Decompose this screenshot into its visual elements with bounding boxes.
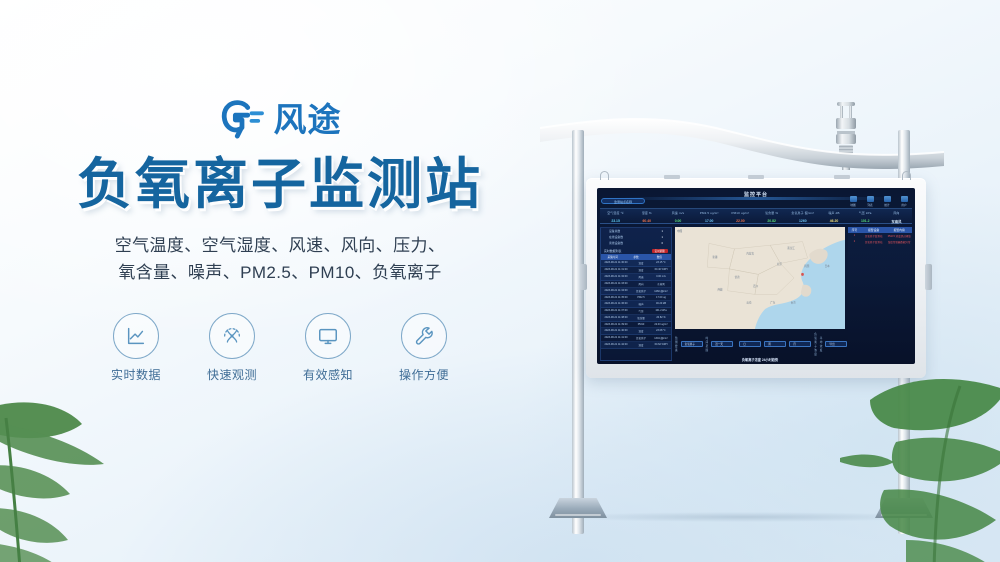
stat-label: 气压 kPa [850,211,881,215]
stat-item: 气压 kPa101.2 [850,209,881,223]
alarm-cell: 2 [848,240,861,244]
svg-text:云南: 云南 [746,300,751,304]
table-cell: 负氧离子 [631,336,651,340]
feature-label: 操作方便 [393,366,455,383]
user-tool-icon[interactable]: 用户 [898,196,910,207]
cabinet-side-tab-right [925,264,932,290]
support-post-left [572,130,584,534]
svg-text:西藏: 西藏 [718,288,723,292]
summary-row: 离线设备数0 [601,240,671,246]
table-cell: 2023-08-21 11:39:00 [601,323,631,326]
table-row[interactable]: 2023-08-21 11:41:00负氧离子1304 個/cm³ [601,335,671,342]
mount-clip-icon [748,175,764,179]
param-label: 监测要素 [675,336,678,352]
subtitle-line-1: 空气温度、空气湿度、风速、风向、压力、 [0,232,560,260]
stat-item: 风向东南风 [881,209,912,223]
summary-value: 0 [661,241,663,245]
chart-plot: 0123456700:0001:0002:0003:0004:0005:0006… [675,362,845,364]
data-table-body[interactable]: 2023-08-21 11:30:00温度23.15 ℃2023-08-21 1… [601,260,671,349]
legend-average: 平均浓度 [820,336,823,352]
table-cell: 60.40 %RH [651,268,671,272]
chart-controls[interactable]: 监测要素 负氧离子 时间范围 近一天 日 周 月 负氧离子浓度 平均浓度 导出 [675,332,845,356]
stat-item: PM10 ug/m³22.00 [725,209,756,223]
table-cell: 20.82 % [651,316,671,320]
table-cell: 23.08 ℃ [651,329,671,333]
table-cell: 1304 個/cm³ [651,336,671,340]
svg-text:台湾: 台湾 [791,300,796,304]
alarm-cell: PM2.5 浓度超过阈值 [886,234,912,238]
stat-item: 风速 m/s0.00 [662,209,693,223]
table-row[interactable]: 2023-08-21 11:31:00湿度60.40 %RH [601,267,671,274]
table-cell: 2023-08-21 11:33:00 [601,282,631,286]
legend-primary: 负氧离子浓度 [814,332,817,356]
table-cell: 2023-08-21 11:30:00 [601,261,631,265]
feature-item-easy-operation[interactable]: 操作方便 [393,313,455,383]
summary-value: 1 [661,235,663,239]
table-row[interactable]: 2023-08-21 11:34:00负氧离子1260 個/cm³ [601,288,671,295]
table-cell: 2023-08-21 11:38:00 [601,316,631,320]
table-column-header: 数值 [648,255,671,259]
table-cell: 101.2 kPa [651,309,671,313]
svg-text:北京: 北京 [777,262,782,266]
range-button-week[interactable]: 周 [764,341,786,347]
alarm-panel[interactable]: 序号报警设备报警内容 1负氧离子监测站PM2.5 浓度超过阈值2负氧离子监测站湿… [848,227,912,361]
summary-label: 设备总数 [609,229,620,233]
canopy-roof [536,112,948,174]
stat-label: PM2.5 ug/m³ [694,211,725,215]
stat-label: 风速 m/s [662,211,693,215]
trend-chart[interactable]: 监测要素 负氧离子 时间范围 近一天 日 周 月 负氧离子浓度 平均浓度 导出 … [675,332,845,361]
svg-text:四川: 四川 [753,284,758,288]
stat-value: 20.82 [756,219,787,223]
feature-item-fast-observation[interactable]: 快速观测 [201,313,263,383]
map-tool-icon[interactable]: 地图 [847,196,859,207]
table-cell: 气压 [631,309,651,313]
table-column-header: 参数 [624,255,647,259]
param-select[interactable]: 负氧离子 [681,341,703,347]
mount-clip-icon [664,175,680,179]
stat-value: 46.20 [818,219,849,223]
stat-value: 东南风 [881,219,912,224]
site-tag: 监测站点名称 [601,198,645,204]
radar-wave-icon [209,313,255,359]
table-row[interactable]: 2023-08-21 11:38:00氧含量20.82 % [601,315,671,322]
banana-leaf-icon [840,370,1000,562]
alarm-cell: 负氧离子监测站 [861,240,887,244]
alarm-cell: 1 [848,234,861,238]
chart-tool-icon[interactable]: 统计 [881,196,893,207]
stat-label: 风向 [881,211,912,215]
line-chart-icon [113,313,159,359]
stat-value: 1260 [787,219,818,223]
alarm-cell: 负氧离子监测站 [861,234,887,238]
table-cell: 噪声 [631,302,651,306]
range-label: 时间范围 [706,336,709,352]
table-row[interactable]: 2023-08-21 11:40:00温度23.08 ℃ [601,328,671,335]
dashboard-screen[interactable]: 监控平台 监测站点名称 地图 列表 统计 用户 空气温度 ℃23.15湿度 %6… [597,188,915,364]
dashboard-toolbar[interactable]: 地图 列表 统计 用户 [847,196,910,207]
table-cell: 温度 [631,329,651,333]
feature-item-effective-sensing[interactable]: 有效感知 [297,313,359,383]
range-select[interactable]: 近一天 [711,341,733,347]
stat-item: PM2.5 ug/m³17.00 [694,209,725,223]
page-title: 负氧离子监测站 [0,154,560,216]
wind-g-logo-icon [219,99,265,139]
stat-value: 22.00 [725,219,756,223]
table-cell: 2023-08-21 11:36:00 [601,302,631,306]
table-cell: 2023-08-21 11:31:00 [601,268,631,272]
alarm-cell: 湿度传感器数据异常 [886,240,912,244]
svg-text:黑龙江: 黑龙江 [787,246,795,250]
mount-clip-icon [834,175,850,179]
svg-text:甘肃: 甘肃 [735,275,740,279]
range-button-day[interactable]: 日 [739,341,761,347]
cabinet-side-tab-left [580,264,587,290]
summary-label: 离线设备数 [609,241,623,245]
mount-hook-icon [902,171,911,180]
table-cell: 温度 [631,261,651,265]
feature-label: 有效感知 [297,366,359,383]
monitor-screen-icon [305,313,351,359]
table-cell: 2023-08-21 11:37:00 [601,309,631,313]
stat-item: 负氧离子 個/cm³1260 [787,209,818,223]
table-cell: 2023-08-21 11:34:00 [601,289,631,293]
alarm-column-header: 序号 [848,228,861,232]
stat-label: 负氧离子 個/cm³ [787,211,818,215]
table-cell: 风向 [631,282,651,286]
range-button-month[interactable]: 月 [789,341,811,347]
base-plate-left [549,498,607,518]
table-cell: 46.20 dB [651,302,671,306]
stat-value: 0.00 [662,219,693,223]
stat-label: 噪声 dB [818,211,849,215]
display-cabinet: 监控平台 监测站点名称 地图 列表 统计 用户 空气温度 ℃23.15湿度 %6… [586,178,926,378]
table-cell: PM10 [631,323,651,326]
table-row[interactable]: 2023-08-21 11:33:00风向东南风 [601,281,671,288]
table-cell: 风速 [631,275,651,279]
table-cell: PM2.5 [631,296,651,299]
table-cell: 负氧离子 [631,289,651,293]
status-badge: 实时刷新 [652,249,668,253]
brand-name: 风途 [274,103,342,136]
alarm-column-header: 报警设备 [861,228,887,232]
list-tool-icon[interactable]: 列表 [864,196,876,207]
china-map[interactable]: 新疆 内蒙古 黑龙江 北京 甘肃 西藏 四川 云南 广东 台湾 日本 韩国 中国 [675,227,845,329]
stat-value: 101.2 [850,219,881,223]
feature-label: 快速观测 [201,366,263,383]
stats-strip: 空气温度 ℃23.15湿度 %60.40风速 m/s0.00PM2.5 ug/m… [600,208,912,224]
stat-value: 23.15 [600,219,631,223]
table-row[interactable]: 2023-08-21 11:32:00风速0.00 m/s [601,274,671,281]
svg-text:广东: 广东 [770,300,775,304]
stat-label: 氧含量 % [756,211,787,215]
table-column-header: 采集时间 [601,255,624,259]
table-cell: 东南风 [651,282,671,286]
table-row[interactable]: 2023-08-21 11:37:00气压101.2 kPa [601,308,671,315]
summary-label: 在线设备数 [609,235,623,239]
table-cell: 湿度 [631,343,651,347]
marketing-copy: 风途 负氧离子监测站 空气温度、空气湿度、风速、风向、压力、 氧含量、噪声、PM… [0,96,560,383]
stat-item: 空气温度 ℃23.15 [600,209,631,223]
mount-hook-icon [600,171,609,180]
device-summary-list: 设备总数1在线设备数1离线设备数0 [601,228,671,246]
stat-value: 60.40 [631,219,662,223]
svg-text:新疆: 新疆 [712,255,717,259]
export-button[interactable]: 导出 [825,341,847,347]
stat-item: 噪声 dB46.20 [818,209,849,223]
table-cell: 2023-08-21 11:42:00 [601,343,631,347]
svg-text:韩国: 韩国 [804,264,809,268]
summary-value: 1 [661,229,663,233]
stat-label: PM10 ug/m³ [725,211,756,215]
table-cell: 2023-08-21 11:41:00 [601,336,631,340]
table-cell: 22.00 ug/m³ [651,323,671,326]
tropical-leaf-icon [0,358,176,562]
alarm-column-header: 报警内容 [886,228,912,232]
wrench-icon [401,313,447,359]
svg-text:内蒙古: 内蒙古 [746,251,754,255]
table-cell: 2023-08-21 11:35:00 [601,296,631,299]
alarm-rows[interactable]: 1负氧离子监测站PM2.5 浓度超过阈值2负氧离子监测站湿度传感器数据异常 [848,233,912,245]
subtitle: 空气温度、空气湿度、风速、风向、压力、 氧含量、噪声、PM2.5、PM10、负氧… [0,232,560,287]
subtitle-line-2: 氧含量、噪声、PM2.5、PM10、负氧离子 [0,259,560,287]
table-row[interactable]: 2023-08-21 11:42:00湿度60.62 %RH [601,342,671,349]
stat-item: 氧含量 %20.82 [756,209,787,223]
alarm-row[interactable]: 2负氧离子监测站湿度传感器数据异常 [848,239,912,245]
table-row[interactable]: 2023-08-21 11:30:00温度23.15 ℃ [601,260,671,267]
table-cell: 17.00 ug [651,296,671,299]
map-region-label: 中国 [677,229,682,233]
table-heading: 实时数据列表 [604,249,621,253]
table-cell: 0.00 m/s [651,275,671,279]
table-cell: 23.15 ℃ [651,261,671,265]
stat-item: 湿度 %60.40 [631,209,662,223]
stat-label: 空气温度 ℃ [600,211,631,215]
table-cell: 60.62 %RH [651,343,671,347]
table-cell: 2023-08-21 11:40:00 [601,329,631,333]
stat-label: 湿度 % [631,211,662,215]
table-row[interactable]: 2023-08-21 11:36:00噪声46.20 dB [601,301,671,308]
stat-value: 17.00 [694,219,725,223]
brand-logo: 风途 [0,96,560,142]
table-cell: 1260 個/cm³ [651,289,671,293]
table-cell: 氧含量 [631,316,651,320]
left-data-panel[interactable]: 设备总数1在线设备数1离线设备数0 实时数据列表 实时刷新 采集时间参数数值 2… [600,227,672,361]
table-cell: 2023-08-21 11:32:00 [601,275,631,279]
svg-text:日本: 日本 [825,264,830,268]
table-cell: 湿度 [631,268,651,272]
